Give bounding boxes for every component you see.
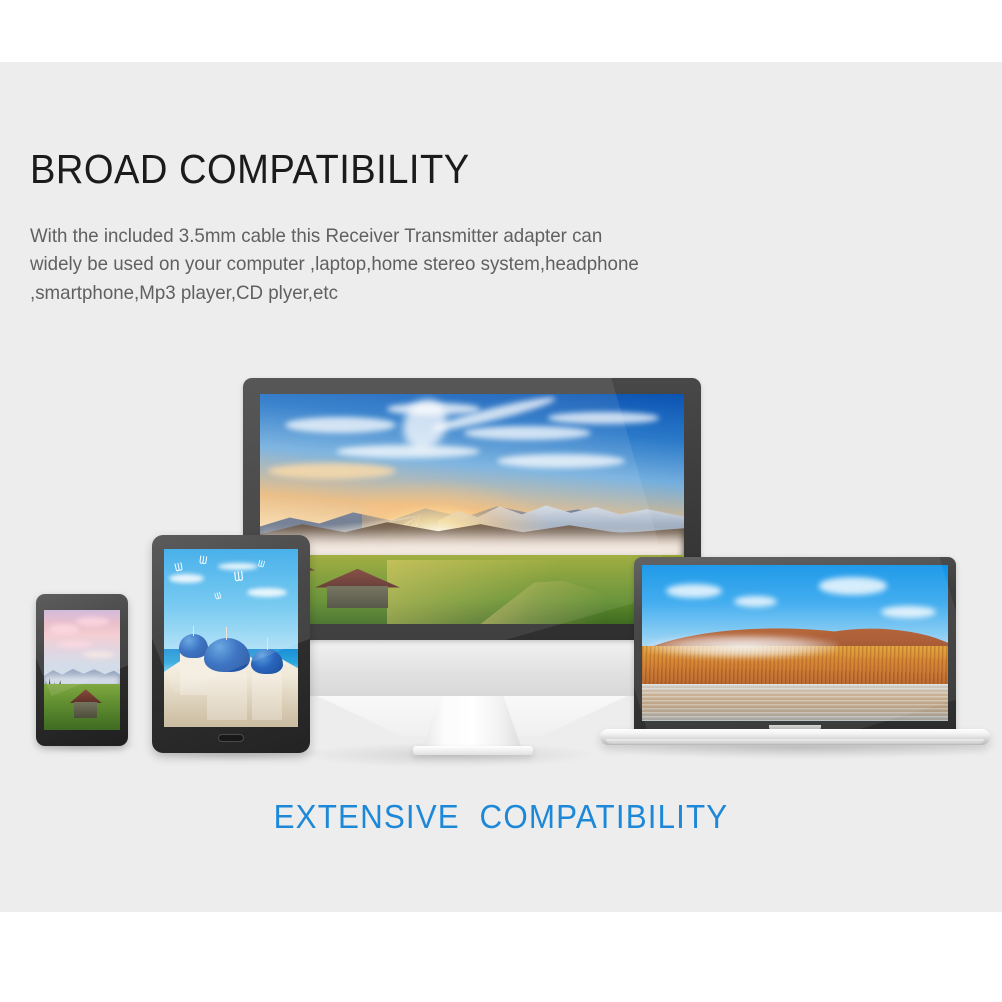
laptop-screen-wallpaper	[642, 565, 948, 721]
seagull-icon: ᗯ	[198, 556, 207, 568]
page-title: BROAD COMPATIBILITY	[30, 148, 470, 191]
description-text: With the included 3.5mm cable this Recei…	[30, 222, 644, 307]
device-smartphone	[36, 594, 128, 746]
seagull-icon: ᗯ	[233, 570, 244, 584]
phone-screen-wallpaper	[44, 610, 120, 730]
seagull-icon: ᗯ	[257, 559, 265, 569]
tablet-screen-wallpaper: ᗯ ᗯ ᗯ ᗯ ᗯ	[164, 549, 298, 727]
seagull-icon: ᗯ	[174, 563, 184, 575]
tablet-home-button[interactable]	[218, 734, 244, 742]
laptop-base-edge	[606, 739, 984, 744]
device-tablet: ᗯ ᗯ ᗯ ᗯ ᗯ	[152, 535, 310, 753]
product-banner: BROAD COMPATIBILITY With the included 3.…	[0, 0, 1002, 1002]
device-laptop	[600, 557, 990, 747]
monitor-base	[413, 746, 533, 755]
tagline-text: EXTENSIVE COMPATIBILITY	[25, 798, 977, 836]
